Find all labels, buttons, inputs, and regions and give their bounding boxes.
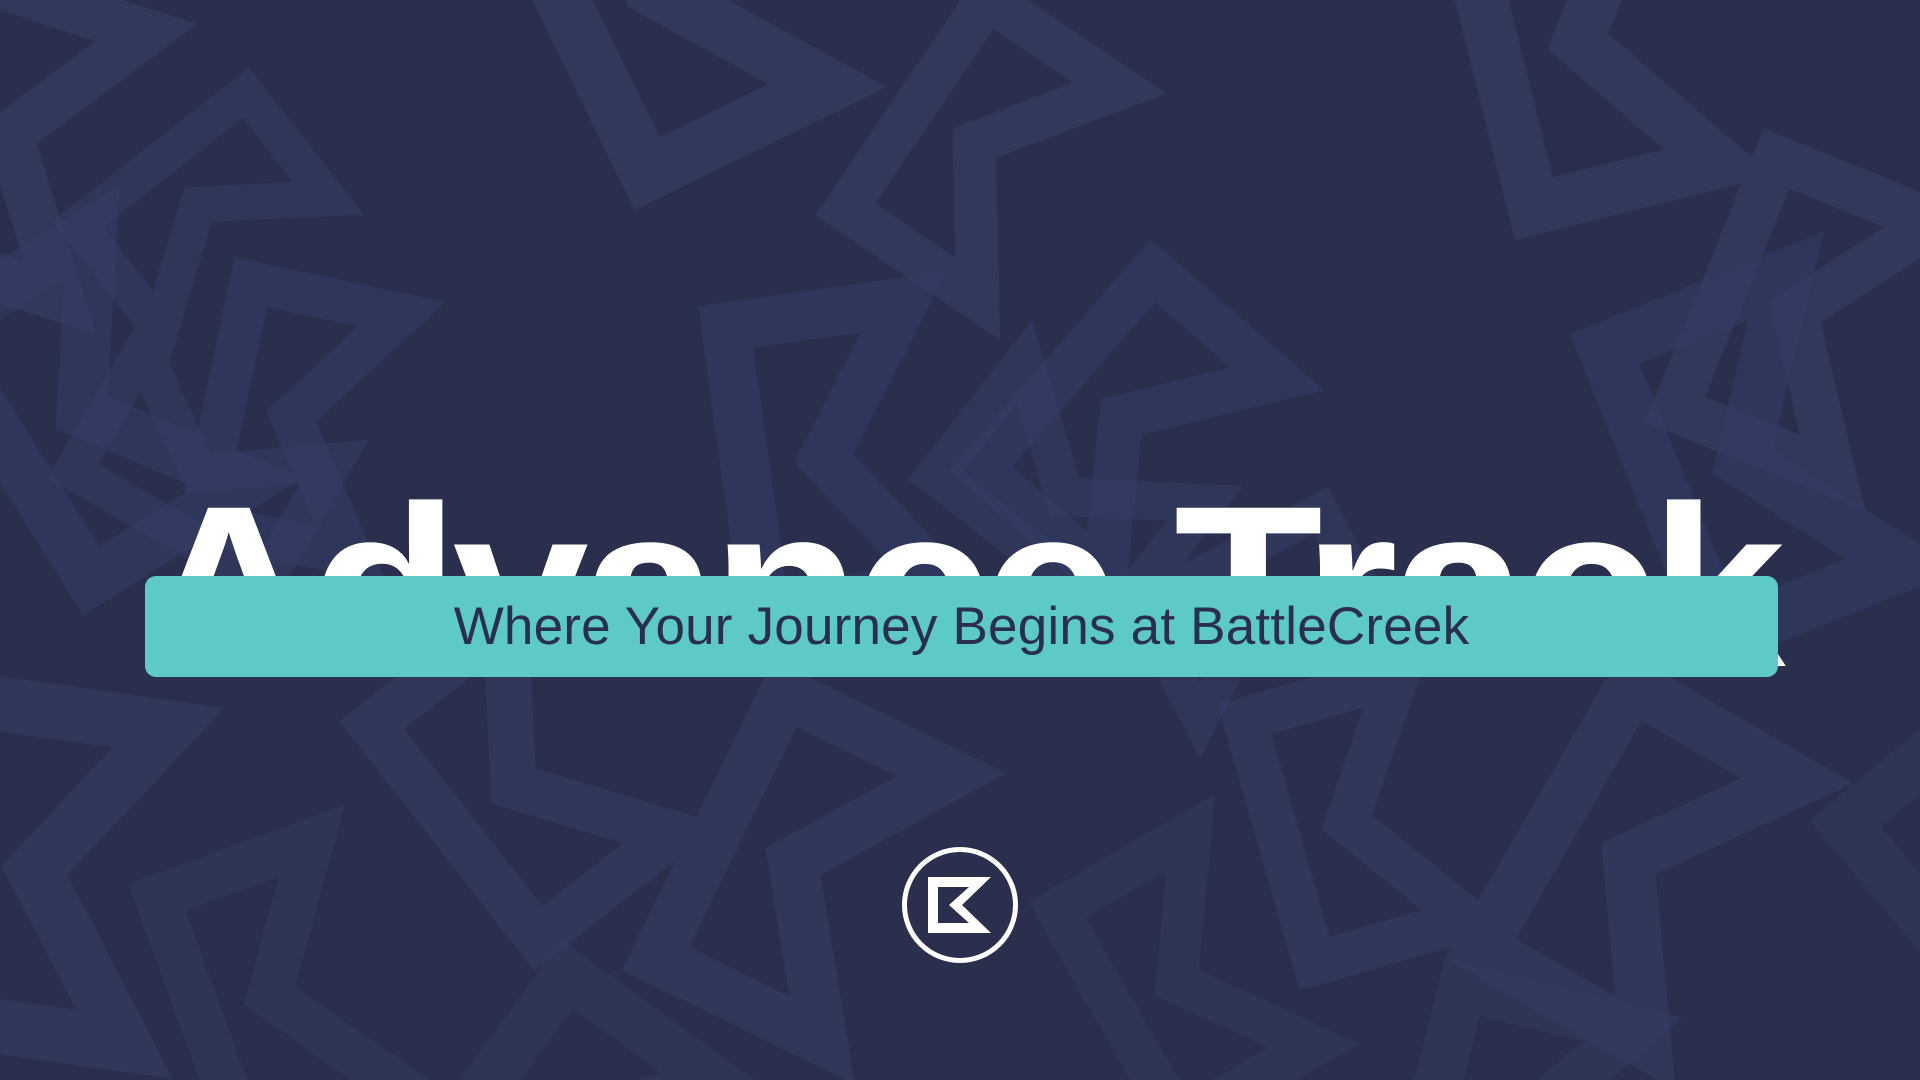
brand-logo xyxy=(890,835,1030,975)
subtitle-banner: Where Your Journey Begins at BattleCreek xyxy=(145,576,1778,677)
subtitle-text: Where Your Journey Begins at BattleCreek xyxy=(454,600,1470,653)
battlecreek-logo-icon xyxy=(890,835,1030,975)
title-slide: Advance Track Where Your Journey Begins … xyxy=(0,0,1920,1080)
slide-content: Advance Track Where Your Journey Begins … xyxy=(0,0,1920,1080)
